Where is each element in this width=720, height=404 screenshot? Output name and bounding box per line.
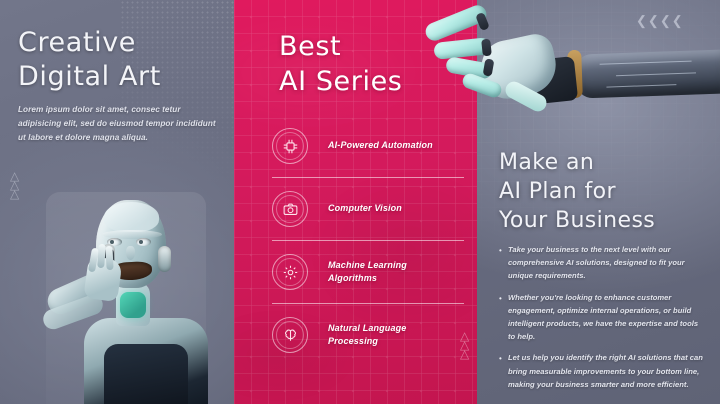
ai-chip-icon bbox=[272, 128, 308, 164]
bullet-item: • Let us help you identify the right AI … bbox=[499, 351, 703, 391]
bullet-item: • Take your business to the next level w… bbox=[499, 243, 703, 283]
feature-item-ai-powered-automation[interactable]: AI-Powered Automation bbox=[272, 118, 468, 174]
right-panel: Make an AI Plan for Your Business • Take… bbox=[477, 0, 720, 404]
robot-neck-glow bbox=[120, 292, 146, 318]
chevron-up-icon: △ bbox=[10, 190, 19, 199]
left-panel-body-text: Lorem ipsum dolor sit amet, consec tetur… bbox=[18, 103, 216, 145]
feature-list: AI-Powered Automation Computer Vision bbox=[272, 118, 468, 363]
chevron-up-decoration-left: △ △ △ bbox=[10, 172, 19, 199]
feature-item-machine-learning-algorithms[interactable]: Machine Learning Algorithms bbox=[272, 244, 468, 300]
bullet-marker: • bbox=[499, 295, 508, 344]
chevron-up-icon: △ bbox=[10, 172, 19, 181]
feature-item-computer-vision[interactable]: Computer Vision bbox=[272, 181, 468, 237]
robot-finger-3 bbox=[105, 246, 113, 270]
gear-cog-icon bbox=[272, 254, 308, 290]
bullet-marker: • bbox=[499, 247, 508, 283]
feature-separator bbox=[272, 177, 464, 178]
camera-vision-icon bbox=[272, 191, 308, 227]
pink-panel-title: Best AI Series bbox=[279, 30, 402, 99]
presentation-slide: Creative Digital Art Lorem ipsum dolor s… bbox=[0, 0, 720, 404]
bullet-marker: • bbox=[499, 355, 508, 391]
feature-label: Machine Learning Algorithms bbox=[328, 259, 407, 285]
feature-separator bbox=[272, 303, 464, 304]
bullet-text: Whether you're looking to enhance custom… bbox=[508, 291, 703, 344]
bullet-text: Take your business to the next level wit… bbox=[508, 243, 703, 283]
robot-pupil-right bbox=[139, 240, 143, 244]
robot-skull-plate bbox=[104, 202, 159, 232]
left-panel: Creative Digital Art Lorem ipsum dolor s… bbox=[0, 0, 234, 404]
feature-item-natural-language-processing[interactable]: Natural Language Processing bbox=[272, 307, 468, 363]
right-panel-title: Make an AI Plan for Your Business bbox=[499, 148, 655, 235]
brain-icon bbox=[272, 317, 308, 353]
bullet-list: • Take your business to the next level w… bbox=[499, 243, 703, 399]
feature-label: AI-Powered Automation bbox=[328, 139, 433, 152]
humanoid-robot-figure bbox=[40, 186, 215, 404]
left-panel-title: Creative Digital Art bbox=[18, 26, 161, 94]
robot-nose bbox=[126, 246, 135, 260]
bullet-text: Let us help you identify the right AI so… bbox=[508, 351, 703, 391]
robot-ear-module-right bbox=[158, 246, 171, 272]
feature-separator bbox=[272, 240, 464, 241]
robot-torso bbox=[104, 344, 188, 404]
feature-label: Natural Language Processing bbox=[328, 322, 406, 348]
feature-label: Computer Vision bbox=[328, 202, 402, 215]
pink-panel: Best AI Series AI-Powered Automation bbox=[234, 0, 477, 404]
chevron-up-icon: △ bbox=[10, 181, 19, 190]
bullet-item: • Whether you're looking to enhance cust… bbox=[499, 291, 703, 344]
